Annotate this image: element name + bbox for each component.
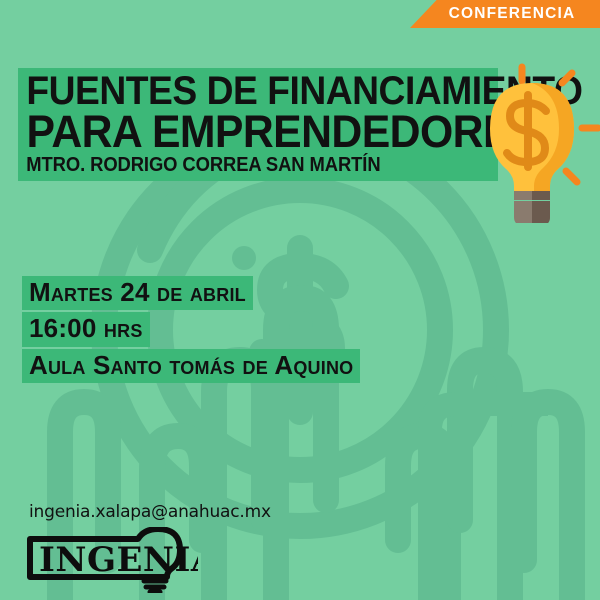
contact-email: ingenia.xalapa@anahuac.mx xyxy=(29,502,271,522)
detail-row: Martes 24 de abril xyxy=(22,276,360,310)
lightbulb-dollar-icon xyxy=(470,55,600,223)
speaker-name: MTRO. RODRIGO CORREA SAN MARTÍN xyxy=(18,154,460,176)
event-details: Martes 24 de abril 16:00 hrs Aula Santo … xyxy=(22,276,360,385)
poster-canvas: CONFERENCIA FUENTES DE FINANCIAMIENTO PA… xyxy=(0,0,600,600)
event-venue: Aula Santo tomás de Aquino xyxy=(22,349,360,383)
event-date: Martes 24 de abril xyxy=(22,276,253,310)
ingenia-logo-text: INGENIA xyxy=(39,540,198,580)
ingenia-logo: INGENIA xyxy=(26,527,198,593)
conferencia-banner-label: CONFERENCIA xyxy=(435,5,576,23)
event-time: 16:00 hrs xyxy=(22,312,150,346)
title-line-1: FUENTES DE FINANCIAMIENTO xyxy=(18,72,464,110)
detail-row: 16:00 hrs xyxy=(22,312,360,346)
detail-row: Aula Santo tomás de Aquino xyxy=(22,349,360,383)
conferencia-banner: CONFERENCIA xyxy=(410,0,600,28)
title-block: FUENTES DE FINANCIAMIENTO PARA EMPRENDED… xyxy=(18,68,498,181)
title-line-2: PARA EMPRENDEDORES xyxy=(18,110,474,153)
